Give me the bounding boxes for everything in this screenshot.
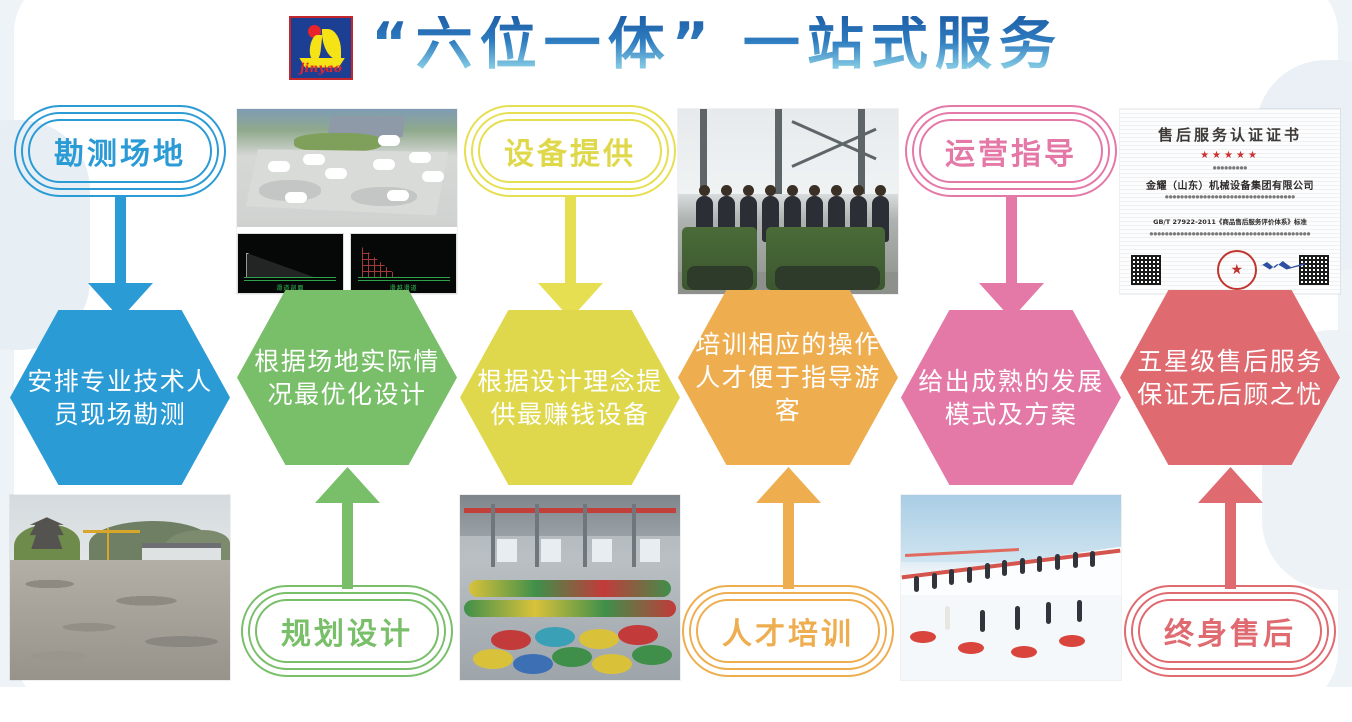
certificate-signature: [1259, 260, 1305, 270]
pill-survey[interactable]: 勘测场地: [14, 105, 226, 197]
company-logo: jinyao: [289, 16, 353, 80]
certificate-qr-left: [1131, 255, 1161, 285]
hexagon-text: 根据场地实际情况最优化设计: [237, 345, 457, 411]
column-training: 培训相应的操作人才便于指导游客 人才培训: [678, 95, 898, 687]
hexagon-text: 根据设计理念提供最赚钱设备: [460, 365, 680, 431]
column-planning: 滑道剖面 滑越滑道 根据场地实际情况最优化设计 规划设计: [237, 95, 457, 687]
arrow-equipment-down: [460, 197, 680, 315]
pill-label: 规划设计: [281, 609, 413, 653]
certificate-standard: GB/T 27922-2011《商品售后服务评价体系》标准: [1120, 216, 1340, 226]
column-equipment: 设备提供 根据设计理念提供最赚钱设备: [460, 95, 680, 687]
pill-planning[interactable]: 规划设计: [241, 585, 453, 677]
column-aftersales: 售后服务认证证书 ★★★★★ ●●●●●●●●● 金耀（山东）机械设备集团有限公…: [1120, 95, 1340, 687]
training-session-photo: [678, 109, 898, 294]
arrow-survey-down: [10, 197, 230, 315]
certificate-company: 金耀（山东）机械设备集团有限公司: [1120, 177, 1340, 192]
infographic-canvas: jinyao “六位一体” 一站式服务 勘测场地 安排专业技术人员现场勘测: [0, 0, 1352, 687]
certificate-stars: ★★★★★: [1120, 150, 1340, 161]
pill-label: 人才培训: [722, 609, 854, 653]
page-header: jinyao “六位一体” 一站式服务: [0, 0, 1352, 95]
hexagon-survey: 安排专业技术人员现场勘测: [10, 310, 230, 485]
snow-park-photo: [901, 495, 1121, 680]
logo-sail-large-icon: [322, 29, 341, 60]
certificate-photo: 售后服务认证证书 ★★★★★ ●●●●●●●●● 金耀（山东）机械设备集团有限公…: [1120, 109, 1340, 294]
equipment-warehouse-photo: [460, 495, 680, 680]
pill-training[interactable]: 人才培训: [682, 585, 894, 677]
arrow-operation-down: [901, 197, 1121, 315]
hexagon-text: 给出成熟的发展模式及方案: [901, 365, 1121, 431]
certificate-seal: ★: [1217, 250, 1257, 290]
certificate-qr-right: [1299, 255, 1329, 285]
hexagon-training: 培训相应的操作人才便于指导游客: [678, 290, 898, 465]
page-title: “六位一体” 一站式服务: [371, 16, 1063, 79]
pill-operation[interactable]: 运营指导: [905, 105, 1117, 197]
hexagon-operation: 给出成熟的发展模式及方案: [901, 310, 1121, 485]
hexagon-text: 培训相应的操作人才便于指导游客: [678, 328, 898, 427]
certificate-title: 售后服务认证证书: [1120, 124, 1340, 145]
pill-label: 勘测场地: [54, 129, 186, 173]
logo-wordmark: jinyao: [291, 61, 351, 75]
pill-equipment[interactable]: 设备提供: [464, 105, 676, 197]
arrow-aftersales-up: [1120, 467, 1340, 585]
hexagon-text: 安排专业技术人员现场勘测: [10, 365, 230, 431]
column-operation: 运营指导 给出成熟的发展模式及方案: [901, 95, 1121, 687]
arrow-planning-up: [237, 467, 457, 585]
pill-label: 设备提供: [504, 129, 636, 173]
hexagon-planning: 根据场地实际情况最优化设计: [237, 290, 457, 465]
column-survey: 勘测场地 安排专业技术人员现场勘测: [10, 95, 230, 687]
hexagon-text: 五星级售后服务保证无后顾之忧: [1120, 345, 1340, 411]
columns-container: 勘测场地 安排专业技术人员现场勘测: [0, 95, 1352, 687]
logo-sail-small-icon: [309, 35, 323, 60]
pill-aftersales[interactable]: 终身售后: [1124, 585, 1336, 677]
hexagon-equipment: 根据设计理念提供最赚钱设备: [460, 310, 680, 485]
hexagon-aftersales: 五星级售后服务保证无后顾之忧: [1120, 290, 1340, 465]
planning-render-photo: 滑道剖面 滑越滑道: [237, 109, 457, 294]
pill-label: 终身售后: [1164, 609, 1296, 653]
pill-label: 运营指导: [945, 129, 1077, 173]
arrow-training-up: [678, 467, 898, 585]
site-survey-photo: [10, 495, 230, 680]
